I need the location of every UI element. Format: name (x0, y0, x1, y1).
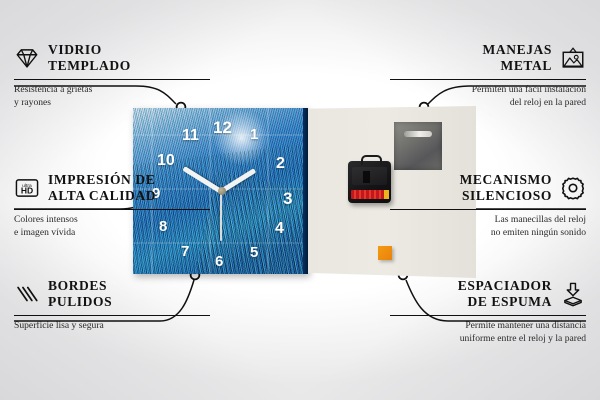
clock-second-hand (220, 191, 222, 241)
diamond-icon (14, 45, 40, 71)
callout-title-line1: MECANISMO (460, 172, 552, 188)
clock-numeral-2: 2 (276, 156, 285, 172)
clock-numeral-5: 5 (250, 245, 258, 260)
callout-subtitle-line2: e imagen vívida (14, 227, 210, 239)
callout-bordes-pulidos: BORDES PULIDOS Superficie lisa y segura (14, 278, 210, 333)
foam-spacer-square (378, 246, 392, 260)
callout-divider (14, 315, 210, 317)
clock-numeral-3: 3 (283, 190, 292, 207)
callout-subtitle-line1: Permiten una fácil instalación (390, 84, 586, 96)
callout-subtitle-line1: Permite mantener una distancia (390, 320, 586, 332)
callout-title-line2: METAL (483, 58, 552, 74)
callout-title-line2: TEMPLADO (48, 58, 131, 74)
callout-divider (390, 209, 586, 211)
clock-center-cap (218, 187, 226, 195)
battery-slot (363, 171, 370, 183)
clock-numeral-7: 7 (181, 244, 189, 259)
svg-text:HD: HD (21, 186, 33, 196)
callout-subtitle-line2: del reloj en la pared (390, 97, 586, 109)
callout-manejas-metal: MANEJAS METAL Permiten una fácil instala… (390, 42, 586, 109)
foam-spacer-icon (560, 281, 586, 307)
callout-title-line2: SILENCIOSO (460, 188, 552, 204)
callout-divider (14, 79, 210, 81)
callout-title-line1: MANEJAS (483, 42, 552, 58)
callout-espaciador-de-espuma: ESPACIADOR DE ESPUMA Permite mantener un… (390, 278, 586, 345)
callout-mecanismo-silencioso: MECANISMO SILENCIOSO Las manecillas del … (390, 172, 586, 239)
clock-numeral-10: 10 (157, 153, 175, 169)
callout-impresion-alta-calidad: ultra HD IMPRESIÓN DE ALTA CALIDAD Color… (14, 172, 210, 239)
callout-title-line1: BORDES (48, 278, 112, 294)
clock-numeral-12: 12 (213, 119, 232, 136)
picture-hanger-icon (560, 45, 586, 71)
clock-numeral-6: 6 (215, 254, 223, 269)
polished-edges-icon (14, 281, 40, 307)
clock-numeral-1: 1 (250, 127, 258, 142)
mechanism-housing (352, 167, 387, 185)
callout-subtitle-line2: uniforme entre el reloj y la pared (390, 333, 586, 345)
callout-subtitle-line1: Colores intensos (14, 214, 210, 226)
mechanism-handle (361, 155, 382, 165)
callout-subtitle-line1: Las manecillas del reloj (390, 214, 586, 226)
clock-numeral-4: 4 (275, 221, 284, 237)
callout-title-line1: VIDRIO (48, 42, 131, 58)
clock-mechanism-box (348, 161, 391, 203)
infographic-canvas: 12 1 2 3 4 5 6 7 8 9 10 11 (0, 0, 600, 400)
callout-subtitle-line1: Superficie lisa y segura (14, 320, 210, 332)
callout-title-line1: IMPRESIÓN DE (48, 172, 156, 188)
clock-glass-edge (303, 108, 308, 274)
metal-hanger-icon (394, 122, 442, 170)
callout-divider (390, 79, 586, 81)
ultra-hd-icon: ultra HD (14, 175, 40, 201)
callout-subtitle-line2: y rayones (14, 97, 210, 109)
hanger-slot (404, 131, 432, 137)
clock-numeral-11: 11 (182, 128, 199, 144)
battery-marker (384, 190, 389, 199)
battery-label (351, 190, 388, 199)
gear-icon (560, 175, 586, 201)
callout-subtitle-line1: Resistencia a grietas (14, 84, 210, 96)
callout-title-line1: ESPACIADOR (458, 278, 552, 294)
callout-divider (14, 209, 210, 211)
callout-divider (390, 315, 586, 317)
callout-subtitle-line2: no emiten ningún sonido (390, 227, 586, 239)
callout-vidrio-templado: VIDRIO TEMPLADO Resistencia a grietas y … (14, 42, 210, 109)
callout-title-line2: ALTA CALIDAD (48, 188, 156, 204)
callout-title-line2: PULIDOS (48, 294, 112, 310)
callout-title-line2: DE ESPUMA (458, 294, 552, 310)
